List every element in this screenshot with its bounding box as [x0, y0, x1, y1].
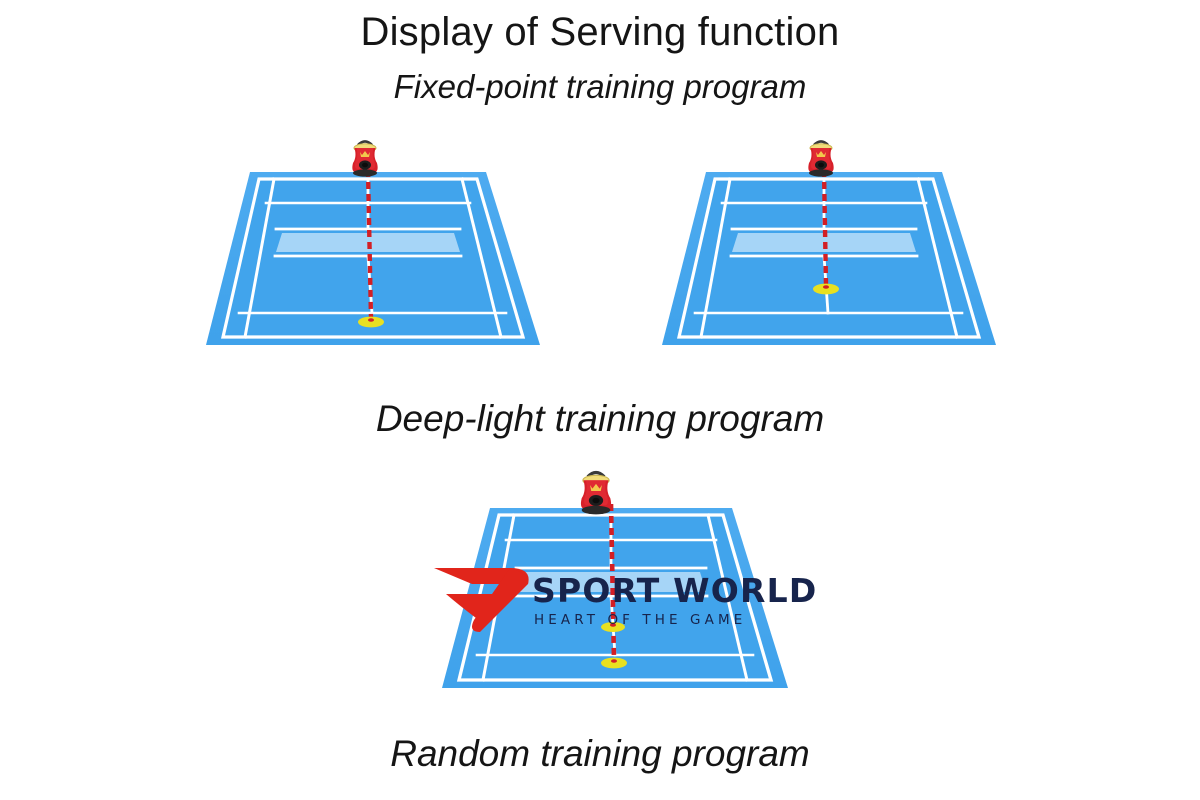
- machine-base: [353, 169, 377, 176]
- landing-target-marker: [358, 317, 384, 328]
- landing-target-marker-near: [601, 622, 625, 632]
- serving-machine-left: [345, 136, 385, 178]
- court-diagram-fixed-right: [652, 166, 996, 351]
- machine-base: [582, 506, 611, 515]
- court-diagram-random: [432, 502, 788, 694]
- caption-deep-light: Deep-light training program: [0, 398, 1200, 440]
- court-diagram-fixed-left: [196, 166, 540, 351]
- caption-random: Random training program: [0, 733, 1200, 775]
- diagram-canvas: Display of Serving function Fixed-point …: [0, 0, 1200, 800]
- serving-machine-center: [572, 466, 620, 516]
- machine-base: [809, 169, 833, 176]
- serving-machine-right: [801, 136, 841, 178]
- page-title: Display of Serving function: [0, 10, 1200, 55]
- landing-target-marker: [813, 284, 839, 295]
- caption-fixed-point: Fixed-point training program: [0, 68, 1200, 106]
- landing-target-marker-far: [601, 658, 627, 669]
